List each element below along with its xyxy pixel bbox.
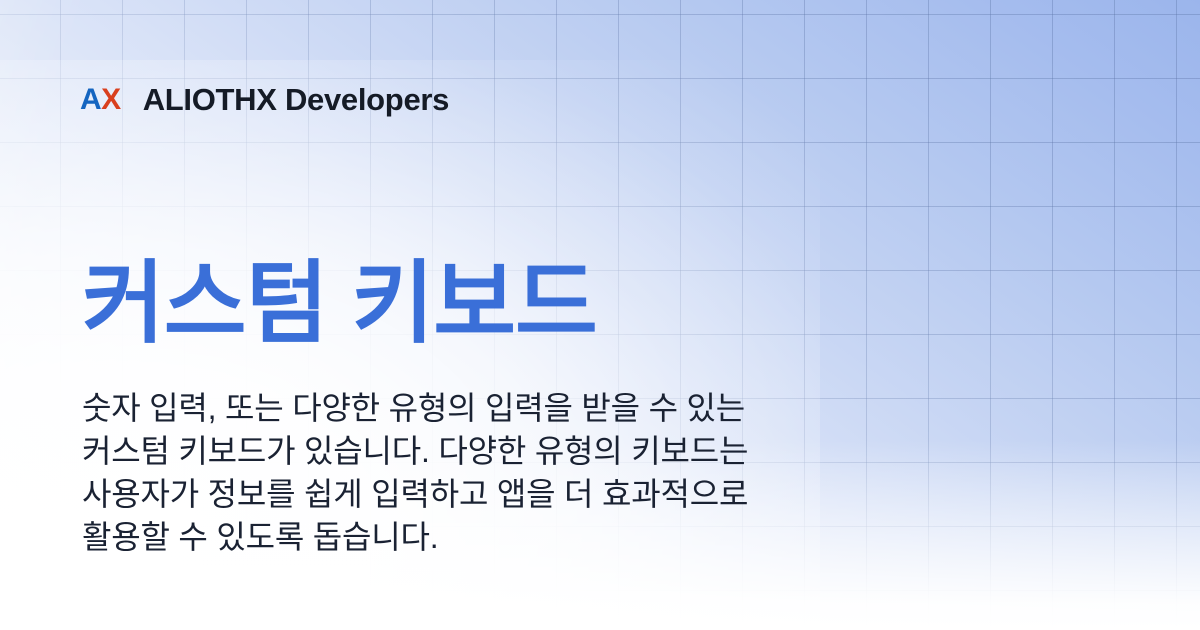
og-banner-card: AX ALIOTHX Developers 커스텀 키보드 숫자 입력, 또는 … [0, 0, 1200, 630]
aliothx-logo-icon: AX [80, 85, 121, 115]
description-paragraph: 숫자 입력, 또는 다양한 유형의 입력을 받을 수 있는 커스텀 키보드가 있… [82, 387, 872, 559]
logo-letter-a: A [80, 83, 101, 116]
brand-lockup: AX ALIOTHX Developers [80, 84, 449, 115]
logo-letter-x: X [101, 83, 121, 116]
card-content: AX ALIOTHX Developers 커스텀 키보드 숫자 입력, 또는 … [0, 0, 1200, 630]
page-title: 커스텀 키보드 [82, 256, 597, 353]
brand-name: ALIOTHX Developers [143, 84, 449, 115]
